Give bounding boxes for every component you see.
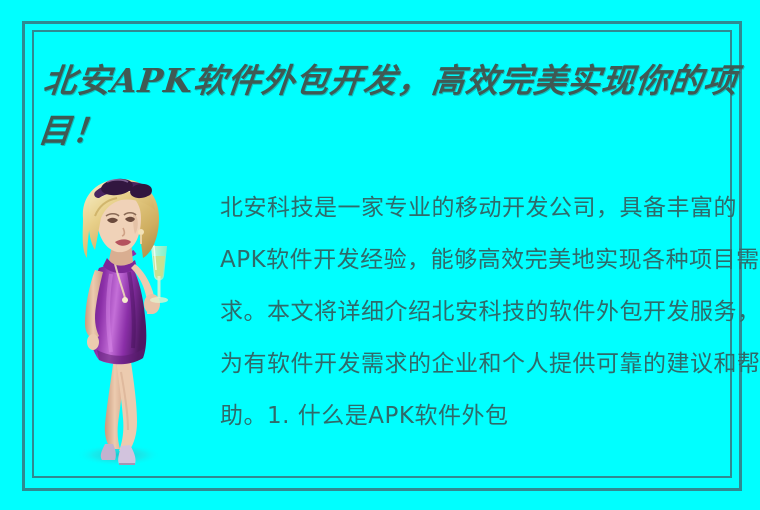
body-paragraph: 北安科技是一家专业的移动开发公司，具备丰富的APK软件开发经验，能够高效完美地实… bbox=[220, 182, 760, 442]
woman-in-purple-dress-illustration bbox=[55, 172, 197, 472]
headline-text: 北安APK软件外包开发，高效完美实现你的项目！ bbox=[35, 56, 760, 156]
figure-earring bbox=[138, 229, 144, 235]
promo-banner: 北安APK软件外包开发，高效完美实现你的项目！ 北安科技是一家专业的移动开发公司… bbox=[0, 0, 760, 510]
